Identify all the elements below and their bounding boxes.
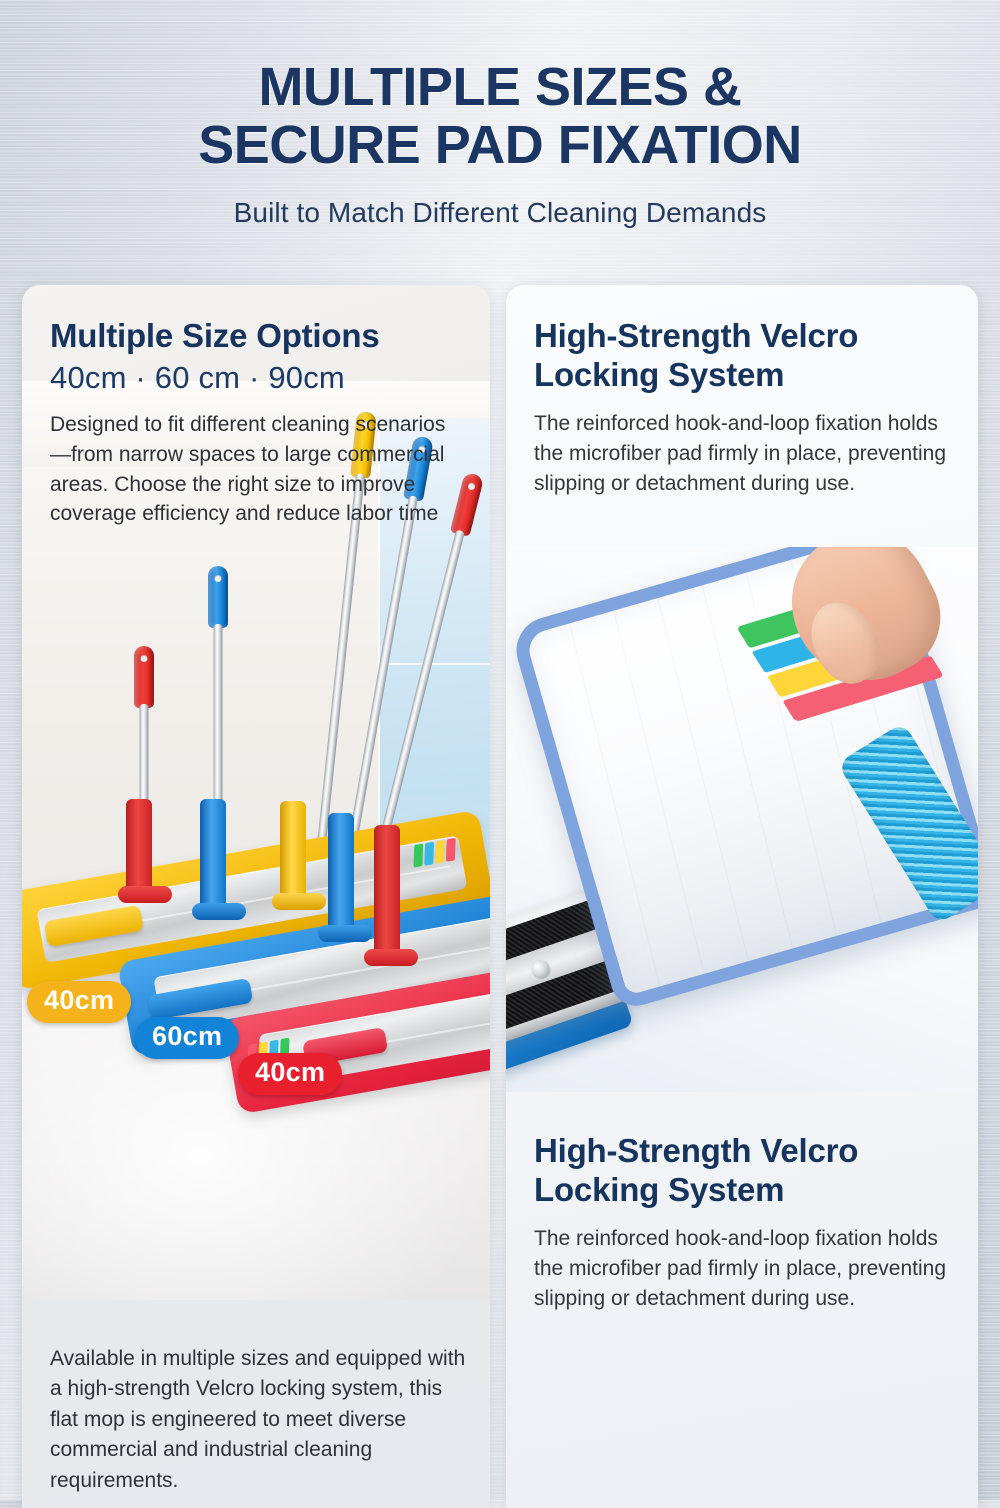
page-subtitle: Built to Match Different Cleaning Demand…: [0, 197, 1000, 229]
left-card-text: Multiple Size Options 40cm · 60 cm · 90c…: [22, 285, 490, 529]
right-card-title-top: High-Strength Velcro Locking System: [534, 317, 950, 395]
page-title: MULTIPLE SIZES & SECURE PAD FIXATION: [0, 58, 1000, 175]
right-card-body-top: The reinforced hook-and-loop fixation ho…: [534, 409, 950, 498]
infographic-page: MULTIPLE SIZES & SECURE PAD FIXATION Bui…: [0, 0, 1000, 1500]
left-card-footnote-text: Available in multiple sizes and equipped…: [50, 1344, 466, 1496]
size-badge-40cm-red: 40cm: [238, 1053, 342, 1095]
card-velcro-locking: High-Strength Velcro Locking System The …: [506, 285, 978, 1508]
size-badge-60cm-blue: 60cm: [135, 1017, 239, 1059]
right-card-text-top: High-Strength Velcro Locking System The …: [506, 285, 978, 498]
screw-icon: [530, 958, 552, 980]
left-card-footnote: Available in multiple sizes and equipped…: [50, 1344, 466, 1496]
foot-blue: [192, 903, 246, 920]
clutch-yellow: [280, 801, 306, 901]
right-card-title-bottom: High-Strength Velcro Locking System: [534, 1132, 950, 1210]
right-card-body-bottom: The reinforced hook-and-loop fixation ho…: [534, 1224, 950, 1313]
title-line-1: MULTIPLE SIZES &: [258, 57, 741, 117]
right-card-text-bottom: High-Strength Velcro Locking System The …: [506, 1100, 978, 1313]
clutch-blue: [328, 813, 354, 931]
cards-row: Multiple Size Options 40cm · 60 cm · 90c…: [22, 285, 978, 1508]
foot-yellow: [272, 893, 326, 910]
velcro-closeup-photo: [506, 547, 978, 1092]
clutch-red: [374, 825, 400, 955]
foot-red: [118, 886, 172, 903]
card-multiple-sizes: Multiple Size Options 40cm · 60 cm · 90c…: [22, 285, 490, 1508]
grip-red-icon: [134, 646, 154, 708]
title-line-2: SECURE PAD FIXATION: [0, 116, 1000, 174]
grip-blue-icon: [208, 566, 228, 628]
page-header: MULTIPLE SIZES & SECURE PAD FIXATION Bui…: [0, 58, 1000, 229]
left-card-body: Designed to fit different cleaning scena…: [50, 410, 462, 529]
foot-red: [364, 949, 418, 966]
size-badge-40cm-yellow: 40cm: [27, 981, 131, 1023]
foot-blue: [318, 925, 372, 942]
clutch-red: [126, 799, 152, 895]
size-options-line: 40cm · 60 cm · 90cm: [50, 360, 462, 396]
left-card-title: Multiple Size Options: [50, 317, 462, 356]
clutch-blue: [200, 799, 226, 911]
